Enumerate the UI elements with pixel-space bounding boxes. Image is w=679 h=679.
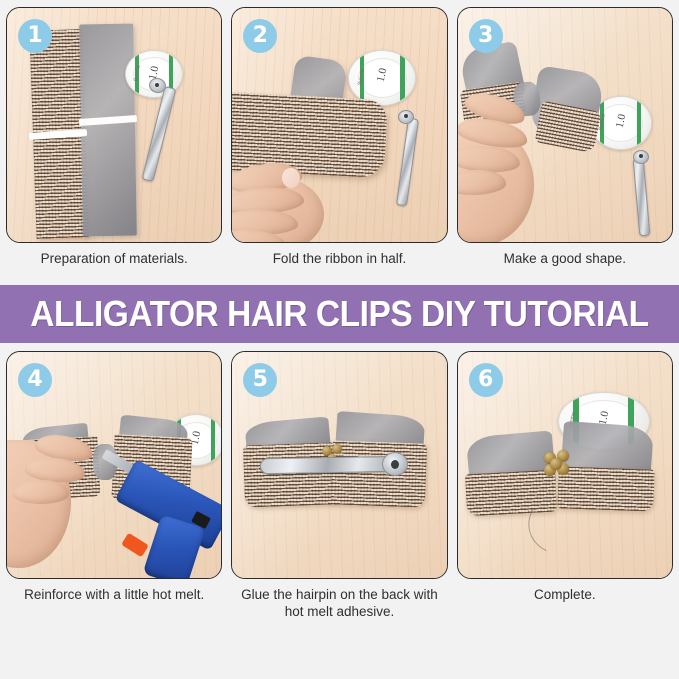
step-row-top: 1.0 Sunmei 1 Preparation of materials. (0, 0, 679, 285)
banner-title: ALLIGATOR HAIR CLIPS DIY TUTORIAL (30, 293, 648, 335)
step-cell-5: 5 Glue the hairpin on the back with hot … (231, 351, 447, 637)
step-cell-2: 1.0 Sunmei 2 (231, 7, 447, 285)
step-photo-4: 1.0 Sunmei (6, 351, 222, 579)
bow-wing-right (331, 440, 427, 507)
tutorial-sheet: 1.0 Sunmei 1 Preparation of materials. (0, 0, 679, 679)
step-photo-1: 1.0 Sunmei 1 (6, 7, 222, 243)
step-cell-4: 1.0 Sunmei (6, 351, 222, 637)
clip-hole (155, 83, 159, 87)
step-caption-6: Complete. (457, 587, 673, 604)
step-row-bottom: 1.0 Sunmei (0, 343, 679, 637)
elastic-cord-spool: 1.0 Sunmei (348, 50, 416, 106)
spool-green-bar-right (637, 100, 641, 146)
step-cell-1: 1.0 Sunmei 1 Preparation of materials. (6, 7, 222, 285)
step-photo-5: 5 (231, 351, 447, 579)
title-banner: ALLIGATOR HAIR CLIPS DIY TUTORIAL (0, 285, 679, 343)
step-caption-4: Reinforce with a little hot melt. (6, 587, 222, 604)
step-badge-6: 6 (469, 363, 503, 397)
step-caption-2: Fold the ribbon in half. (231, 251, 447, 268)
step-photo-2: 1.0 Sunmei 2 (231, 7, 447, 243)
step-badge-4: 4 (18, 363, 52, 397)
bronze-bead (550, 458, 562, 470)
step-photo-6: 1.0 Sunmei 6 (457, 351, 673, 579)
finger (13, 480, 69, 504)
step-caption-3: Make a good shape. (457, 251, 673, 268)
step-badge-1: 1 (18, 19, 52, 53)
spool-green-bar-right (211, 418, 215, 462)
clip-hole (639, 154, 643, 158)
alligator-hair-clip (260, 456, 400, 474)
step-cell-3: 1.0 Sunmei (457, 7, 673, 285)
step-caption-5: Glue the hairpin on the back with hot me… (231, 587, 447, 621)
step-cell-6: 1.0 Sunmei 6 Complete. (457, 351, 673, 637)
step-badge-3: 3 (469, 19, 503, 53)
organza-ribbon (79, 24, 137, 237)
step-photo-3: 1.0 Sunmei (457, 7, 673, 243)
spool-green-bar-right (400, 54, 405, 102)
step-caption-1: Preparation of materials. (6, 251, 222, 268)
